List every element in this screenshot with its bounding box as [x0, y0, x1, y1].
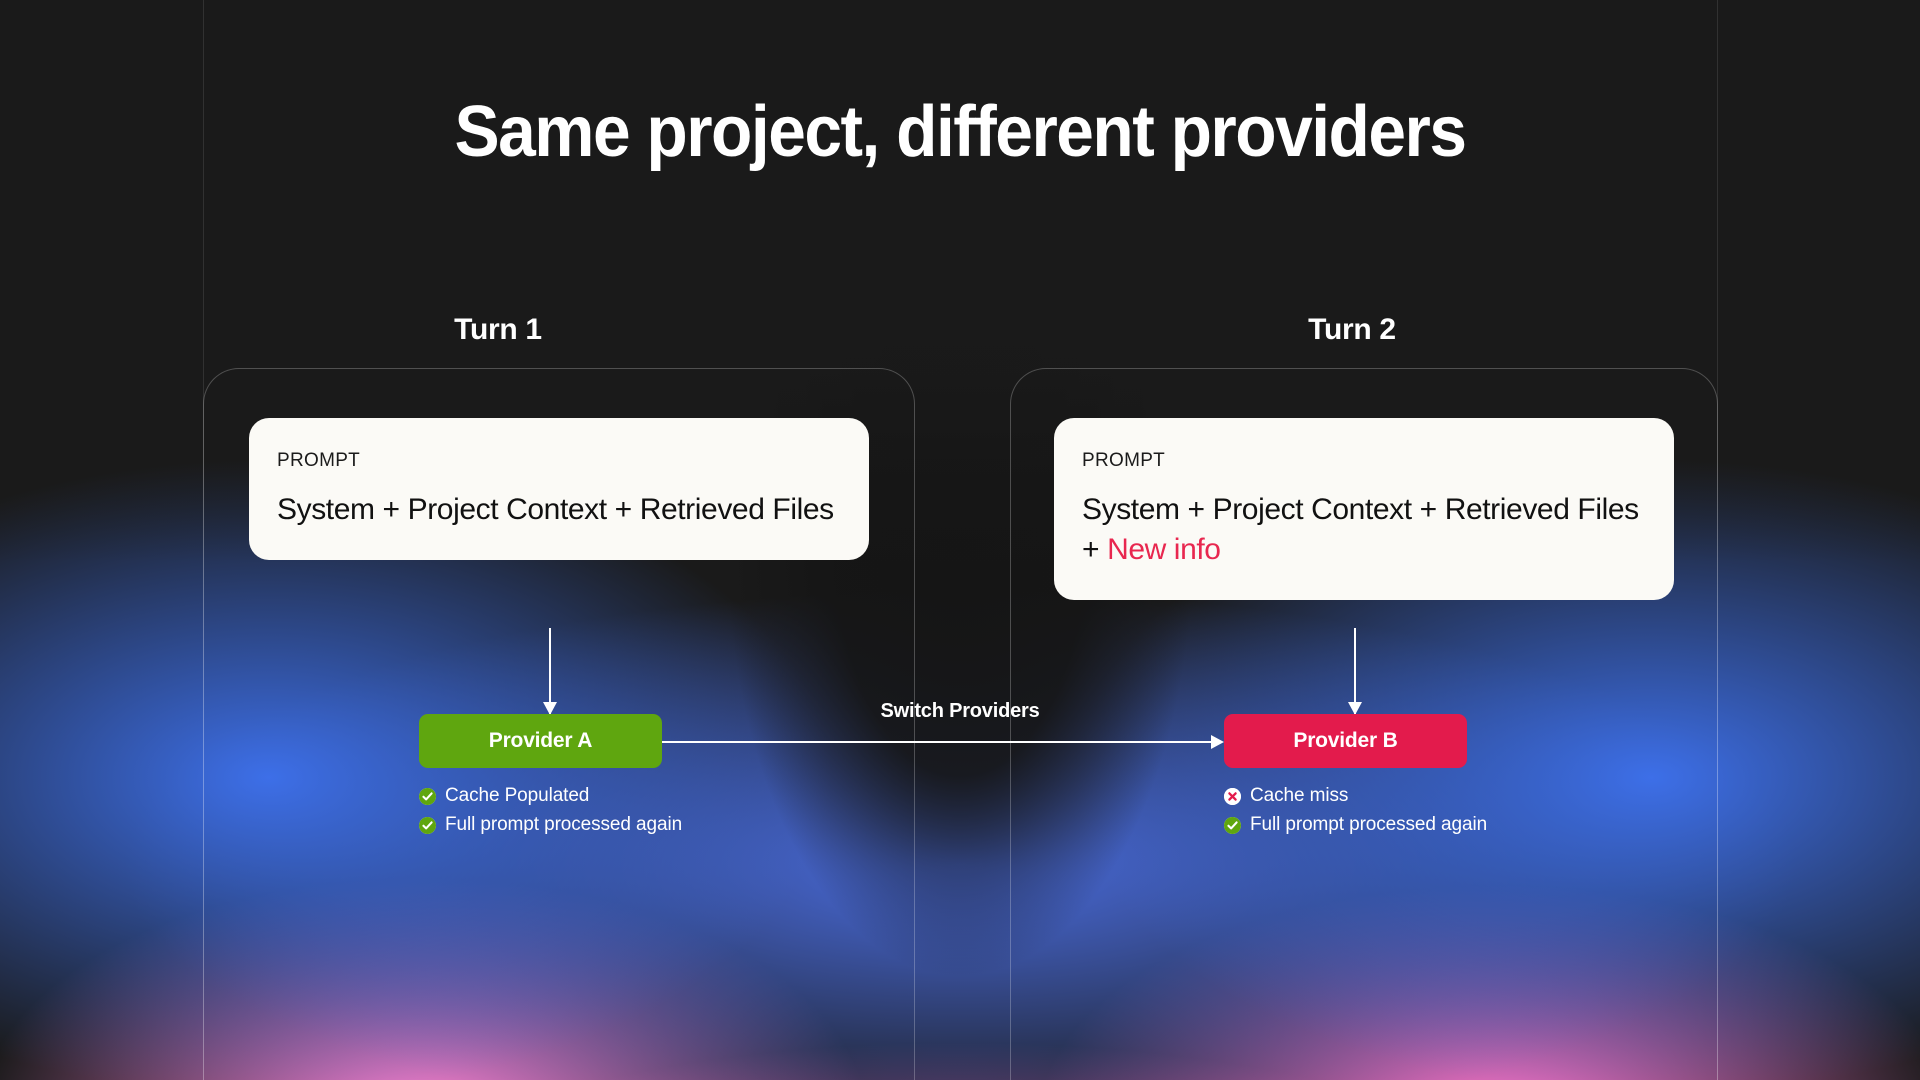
arrow-head — [1211, 735, 1224, 749]
x-circle-icon — [1224, 788, 1241, 805]
check-circle-icon — [419, 788, 436, 805]
prompt-body: System + Project Context + Retrieved Fil… — [1082, 490, 1646, 570]
provider-a-button[interactable]: Provider A — [419, 714, 662, 768]
turn-1-label: Turn 1 — [454, 313, 542, 347]
prompt-kicker: PROMPT — [277, 450, 841, 472]
status-row: Cache miss — [1224, 785, 1487, 807]
status-label: Full prompt processed again — [445, 814, 682, 836]
check-circle-icon — [419, 817, 436, 834]
status-list-provider-a: Cache Populated Full prompt processed ag… — [419, 785, 682, 836]
switch-providers-label: Switch Providers — [880, 700, 1039, 723]
status-list-provider-b: Cache miss Full prompt processed again — [1224, 785, 1487, 836]
prompt-body: System + Project Context + Retrieved Fil… — [277, 490, 841, 530]
provider-b-button[interactable]: Provider B — [1224, 714, 1467, 768]
arrow-down-turn-1 — [543, 628, 557, 714]
slide-canvas: Same project, different providers Turn 1… — [0, 0, 1920, 1080]
status-label: Cache miss — [1250, 785, 1348, 807]
check-circle-icon — [1224, 817, 1241, 834]
switch-providers-arrow — [662, 734, 1224, 750]
status-row: Cache Populated — [419, 785, 682, 807]
page-title: Same project, different providers — [58, 96, 1863, 168]
prompt-card-turn-2: PROMPT System + Project Context + Retrie… — [1054, 418, 1674, 600]
status-row: Full prompt processed again — [1224, 814, 1487, 836]
prompt-highlight-new-info: New info — [1107, 533, 1221, 566]
status-label: Cache Populated — [445, 785, 589, 807]
prompt-text: System + Project Context + Retrieved Fil… — [277, 493, 834, 526]
arrow-shaft — [662, 741, 1212, 743]
prompt-kicker: PROMPT — [1082, 450, 1646, 472]
turn-2-label: Turn 2 — [1308, 313, 1396, 347]
status-label: Full prompt processed again — [1250, 814, 1487, 836]
arrow-down-turn-2 — [1348, 628, 1362, 714]
prompt-card-turn-1: PROMPT System + Project Context + Retrie… — [249, 418, 869, 560]
status-row: Full prompt processed again — [419, 814, 682, 836]
